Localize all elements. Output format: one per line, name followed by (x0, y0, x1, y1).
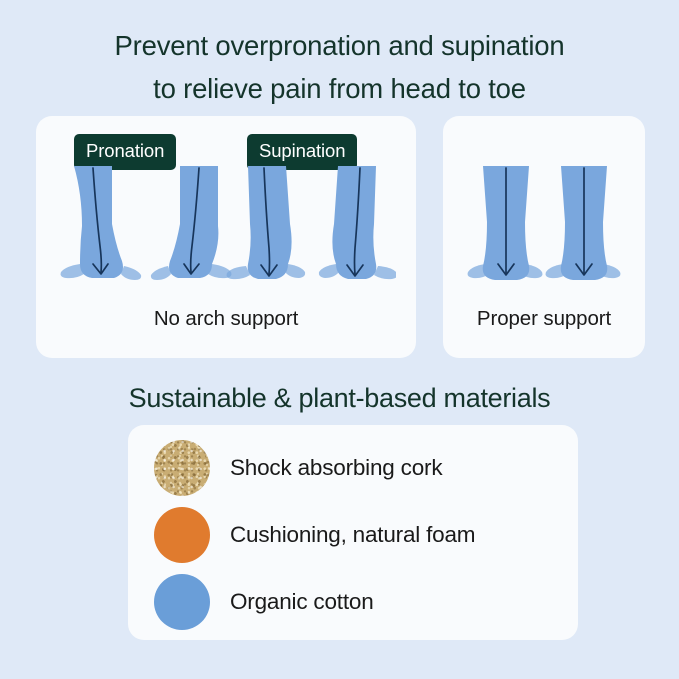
material-label: Shock absorbing cork (230, 455, 442, 481)
materials-card: Shock absorbing cork Cushioning, natural… (128, 425, 578, 640)
legs-illustration-no-support (56, 164, 396, 294)
legs-illustration-proper-support (467, 164, 621, 294)
caption-no-arch-support: No arch support (36, 307, 416, 331)
pronation-left-leg (61, 166, 142, 280)
no-arch-support-card: Pronation Supination (36, 116, 416, 358)
proper-support-card: Proper support (443, 116, 645, 358)
proper-left-leg (468, 166, 543, 280)
list-item: Organic cotton (154, 574, 374, 630)
supination-left-leg (227, 166, 306, 279)
cotton-swatch-icon (154, 574, 210, 630)
supination-right-leg (319, 166, 396, 279)
caption-proper-support: Proper support (443, 307, 645, 331)
headline-line-2: to relieve pain from head to toe (0, 67, 679, 110)
list-item: Shock absorbing cork (154, 440, 442, 496)
proper-right-leg (546, 166, 621, 280)
material-label: Cushioning, natural foam (230, 522, 475, 548)
headline-line-1: Prevent overpronation and supination (0, 24, 679, 67)
materials-list: Shock absorbing cork Cushioning, natural… (128, 425, 578, 640)
infographic-page: Prevent overpronation and supination to … (0, 0, 679, 679)
material-label: Organic cotton (230, 589, 374, 615)
cork-swatch-icon (154, 440, 210, 496)
materials-section-heading: Sustainable & plant-based materials (0, 383, 679, 414)
foam-swatch-icon (154, 507, 210, 563)
list-item: Cushioning, natural foam (154, 507, 475, 563)
page-title: Prevent overpronation and supination to … (0, 24, 679, 110)
pronation-right-leg (151, 166, 232, 280)
